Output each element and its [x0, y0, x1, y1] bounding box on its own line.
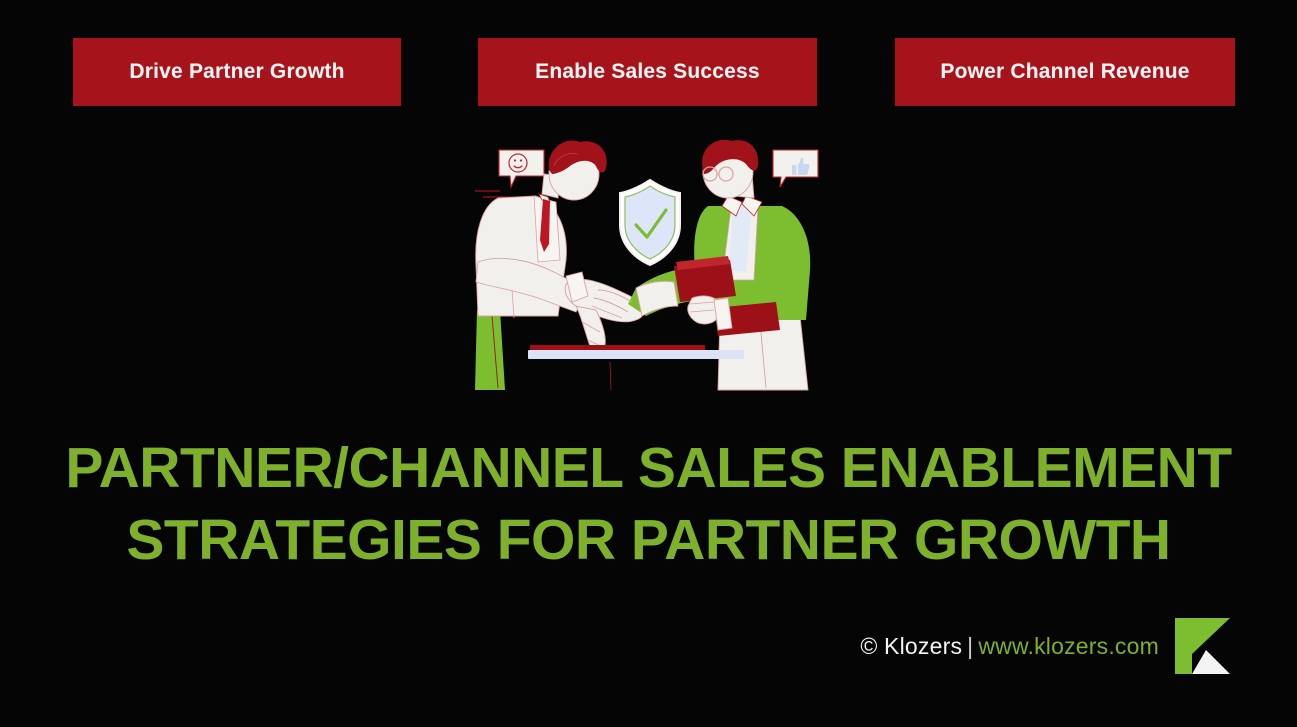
- banner-enable-sales-success[interactable]: Enable Sales Success: [478, 38, 817, 106]
- banner-label: Enable Sales Success: [535, 60, 760, 84]
- page-title: PARTNER/CHANNEL SALES ENABLEMENT STRATEG…: [0, 432, 1297, 576]
- footer-credit: © Klozers|www.klozers.com: [860, 633, 1159, 660]
- desk-edge: [528, 345, 744, 390]
- page-title-line-1: PARTNER/CHANNEL SALES ENABLEMENT: [0, 432, 1297, 504]
- shield-check-icon: [620, 180, 680, 265]
- partnership-handshake-illustration: [470, 140, 830, 400]
- footer: © Klozers|www.klozers.com: [860, 616, 1235, 676]
- website-link[interactable]: www.klozers.com: [978, 633, 1159, 659]
- banner-row: Drive Partner Growth Enable Sales Succes…: [0, 38, 1297, 106]
- copyright-text: © Klozers: [860, 633, 962, 659]
- banner-label: Power Channel Revenue: [940, 60, 1189, 84]
- right-speech-bubble: [773, 150, 818, 187]
- page-title-line-2: STRATEGIES FOR PARTNER GROWTH: [0, 504, 1297, 576]
- left-speech-bubble: [499, 150, 544, 187]
- banner-label: Drive Partner Growth: [129, 60, 344, 84]
- klozers-logo[interactable]: [1173, 616, 1235, 676]
- footer-separator: |: [967, 633, 973, 659]
- slide-canvas: Drive Partner Growth Enable Sales Succes…: [0, 0, 1297, 727]
- banner-drive-partner-growth[interactable]: Drive Partner Growth: [73, 38, 401, 106]
- banner-power-channel-revenue[interactable]: Power Channel Revenue: [895, 38, 1235, 106]
